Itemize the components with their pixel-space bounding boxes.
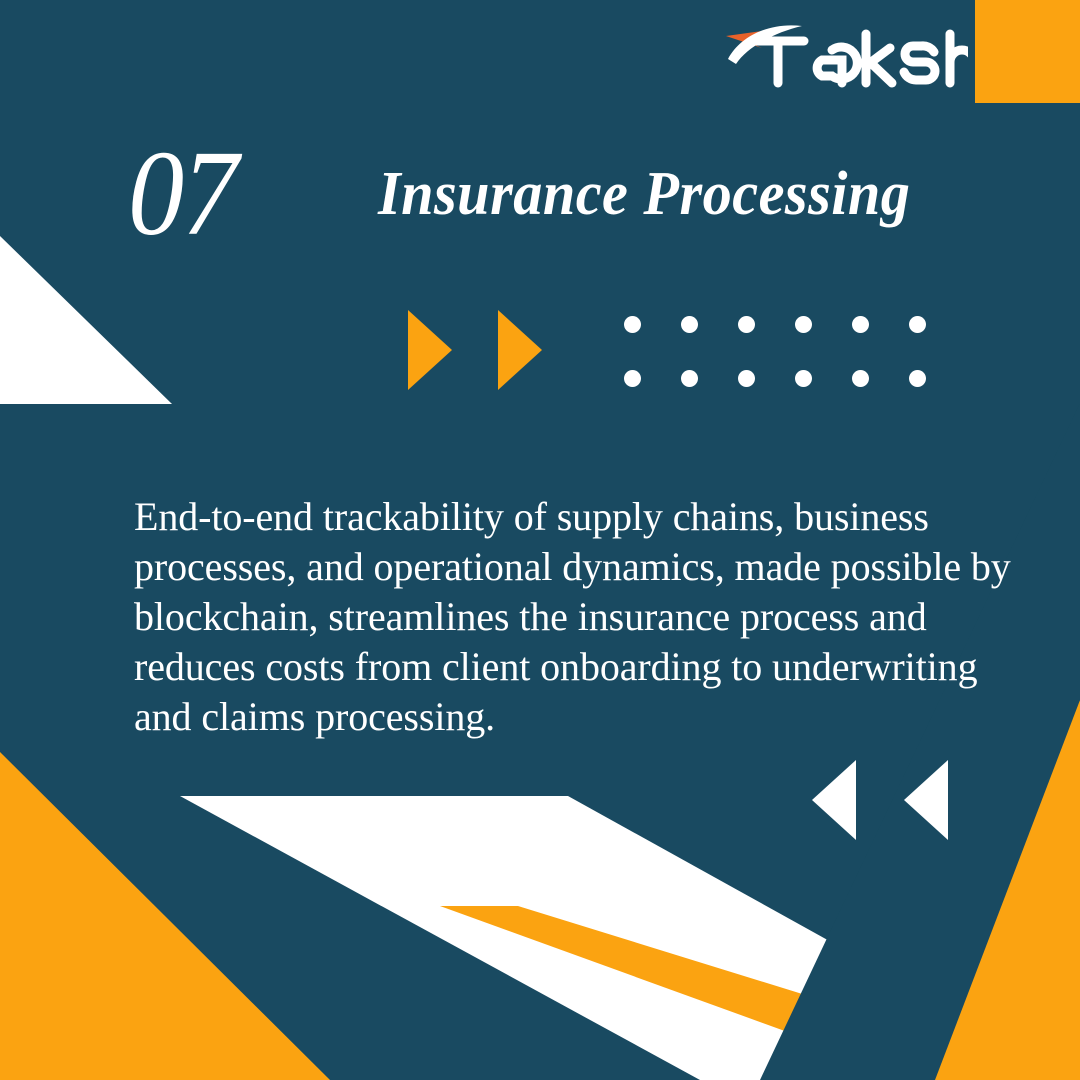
body-paragraph: End-to-end trackability of supply chains… <box>134 492 1024 742</box>
dot <box>681 316 698 333</box>
dot <box>738 316 755 333</box>
headline-row: 07 Insurance Processing <box>128 134 988 254</box>
dot <box>852 316 869 333</box>
orange-diagonal-left <box>0 752 330 1080</box>
corner-accent-square <box>975 0 1080 103</box>
slide-canvas: 07 Insurance Processing End-to-end track… <box>0 0 1080 1080</box>
dot-grid <box>624 316 966 424</box>
dot <box>795 370 812 387</box>
page-title: Insurance Processing <box>378 163 910 225</box>
dot <box>624 316 641 333</box>
white-diagonal-band <box>180 796 1080 1080</box>
dot <box>681 370 698 387</box>
arrow-left-icon-2 <box>904 760 948 840</box>
left-accent-wedge <box>0 236 172 404</box>
dot <box>909 316 926 333</box>
logo-wordmark <box>752 34 968 83</box>
dot <box>795 316 812 333</box>
dot <box>852 370 869 387</box>
dot <box>624 370 641 387</box>
arrow-left-icon-1 <box>812 760 856 840</box>
decoration-row <box>408 306 938 394</box>
slide-number: 07 <box>128 133 358 255</box>
orange-corner-right <box>900 700 1080 1080</box>
dot <box>909 370 926 387</box>
arrow-right-icon-1 <box>408 310 452 390</box>
arrow-right-icon-2 <box>498 310 542 390</box>
orange-diagonal-stripe <box>440 906 1080 1080</box>
dot <box>738 370 755 387</box>
brand-logo[interactable] <box>718 14 968 94</box>
